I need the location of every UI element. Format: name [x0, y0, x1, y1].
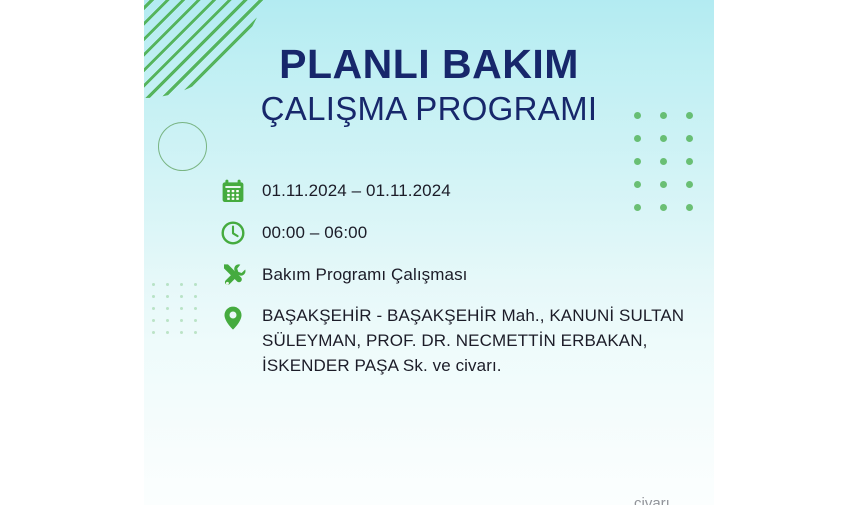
title-subtitle: ÇALIŞMA PROGRAMI: [144, 92, 714, 125]
gradient-panel: PLANLI BAKIM ÇALIŞMA PROGRAMI: [144, 0, 714, 505]
page-title: PLANLI BAKIM ÇALIŞMA PROGRAMI: [144, 44, 714, 125]
tools-icon: [218, 260, 248, 290]
location-pin-icon: [218, 302, 248, 333]
info-row-address: BAŞAKŞEHİR - BAŞAKŞEHİR Mah., KANUNİ SUL…: [218, 302, 714, 378]
dot-grid-left-icon: [152, 283, 208, 343]
calendar-icon: [218, 176, 248, 206]
info-list: 01.11.2024 – 01.11.2024 00:00 – 06:00: [218, 176, 714, 390]
info-row-date: 01.11.2024 – 01.11.2024: [218, 176, 714, 206]
date-range-text: 01.11.2024 – 01.11.2024: [262, 176, 451, 203]
work-type-text: Bakım Programı Çalışması: [262, 260, 468, 287]
bottom-cutoff-text: civarı.: [634, 496, 714, 505]
time-range-text: 00:00 – 06:00: [262, 218, 367, 245]
info-row-work-type: Bakım Programı Çalışması: [218, 260, 714, 290]
info-row-time: 00:00 – 06:00: [218, 218, 714, 248]
address-text: BAŞAKŞEHİR - BAŞAKŞEHİR Mah., KANUNİ SUL…: [262, 302, 692, 378]
circle-outline-icon: [158, 122, 207, 171]
clock-icon: [218, 218, 248, 248]
poster-canvas: PLANLI BAKIM ÇALIŞMA PROGRAMI: [0, 0, 860, 505]
title-main: PLANLI BAKIM: [144, 44, 714, 85]
